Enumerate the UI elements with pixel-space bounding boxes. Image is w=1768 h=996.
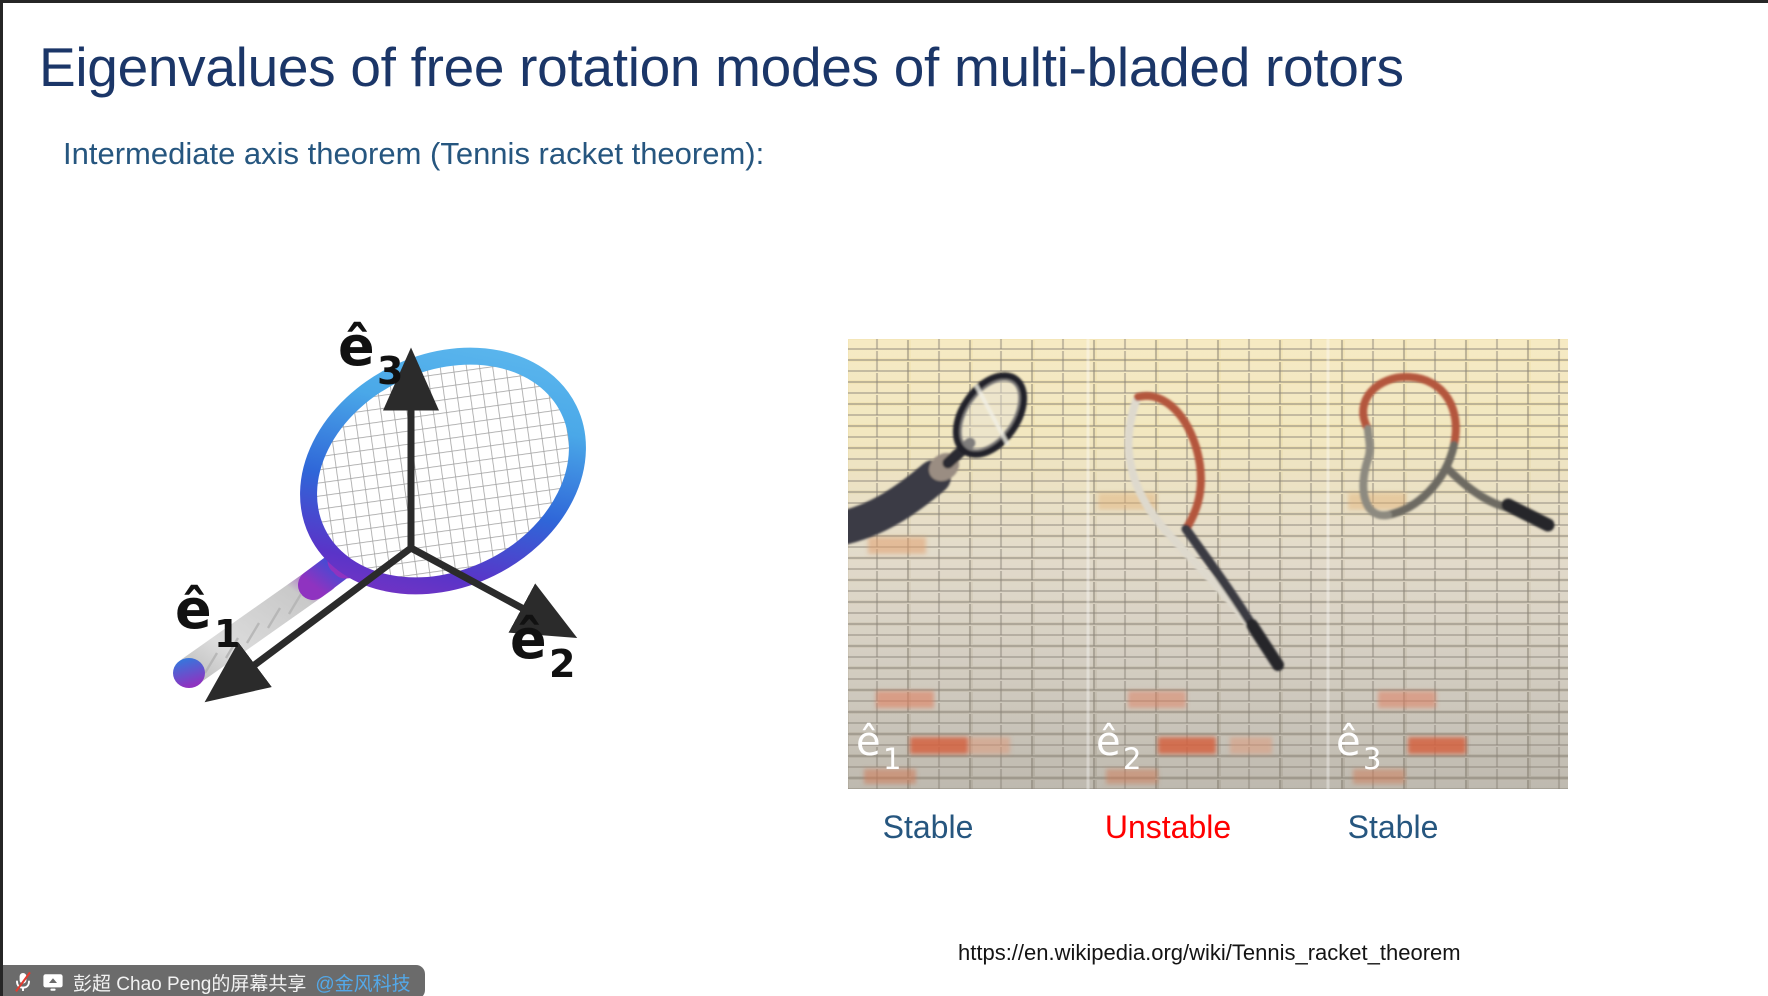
caption-stable-e3: Stable [1313, 809, 1473, 846]
caption-unstable-e2: Unstable [1063, 809, 1273, 846]
page-title: Eigenvalues of free rotation modes of mu… [39, 37, 1719, 99]
caption-stable-e1: Stable [848, 809, 1008, 846]
photo-label-e1: ê [856, 719, 881, 765]
photo-label-e3: ê [1336, 719, 1361, 765]
axis-label-e2-subscript: 2 [549, 642, 575, 686]
share-org-tag: @金风科技 [315, 969, 410, 996]
slide-subtitle: Intermediate axis theorem (Tennis racket… [63, 136, 764, 172]
photo-label-e2: ê [1096, 719, 1121, 765]
microphone-muted-icon[interactable] [13, 971, 33, 993]
axis-label-e3: ê [338, 315, 375, 378]
axis-label-e1-subscript: 1 [214, 612, 240, 656]
racket-butt-cap [173, 658, 205, 688]
screen-share-status-bar: 彭超 Chao Peng的屏幕共享 @金风科技 [3, 965, 425, 996]
share-owner-label: 彭超 Chao Peng的屏幕共享 [73, 969, 306, 996]
tennis-racket-photo: ê 1 ê 2 ê 3 [848, 339, 1568, 789]
axis-label-e3-subscript: 3 [377, 349, 403, 393]
presentation-slide: Eigenvalues of free rotation modes of mu… [0, 0, 1768, 996]
photo-label-e1-subscript: 1 [883, 742, 901, 776]
source-url: https://en.wikipedia.org/wiki/Tennis_rac… [958, 940, 1461, 966]
racket-axes-diagram: ê 1 ê 2 ê 3 [113, 303, 673, 753]
axis-label-e2: ê [510, 608, 547, 671]
photo-label-e3-subscript: 3 [1363, 742, 1381, 776]
screen-share-icon[interactable] [42, 972, 64, 992]
photo-label-e2-subscript: 2 [1123, 742, 1141, 776]
axis-label-e1: ê [175, 578, 212, 641]
